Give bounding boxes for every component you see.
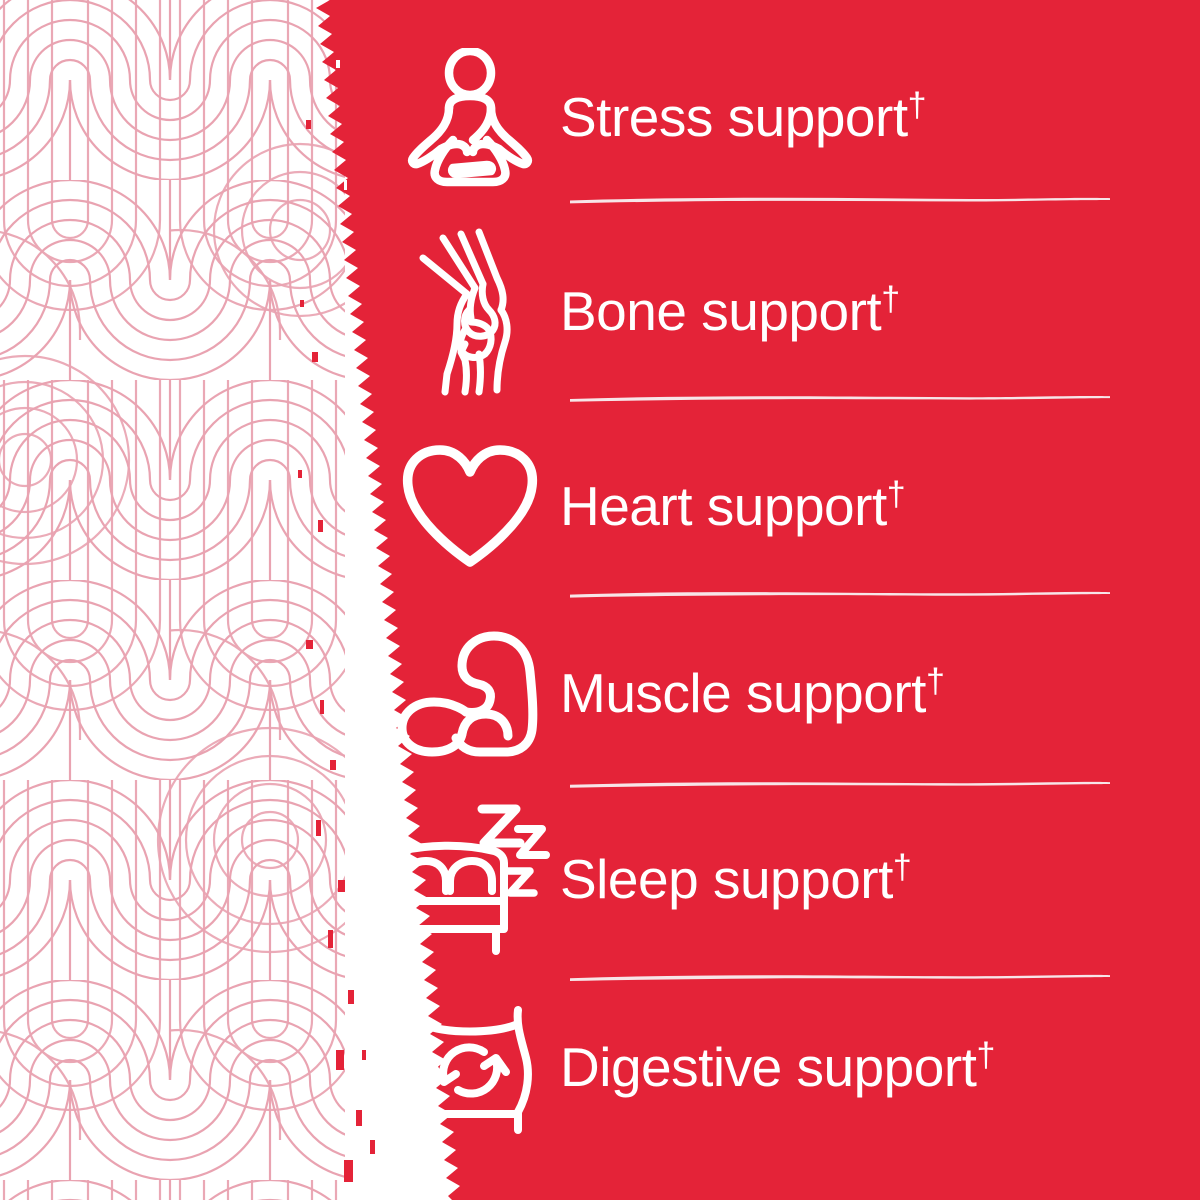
benefit-text-bone: Bone support xyxy=(560,280,881,342)
benefit-text-muscle: Muscle support xyxy=(560,662,926,724)
benefit-label-digestive: Digestive support† xyxy=(560,1039,1140,1097)
benefit-label-bone: Bone support† xyxy=(560,283,1140,341)
benefit-label-sleep: Sleep support† xyxy=(560,851,1140,909)
benefit-text-stress: Stress support xyxy=(560,86,908,148)
digestive-torso-cycle-icon xyxy=(380,1002,560,1134)
footnote-dagger-digestive: † xyxy=(976,1036,994,1074)
footnote-dagger-heart: † xyxy=(887,476,905,514)
footnote-dagger-stress: † xyxy=(908,86,926,124)
benefit-label-heart: Heart support† xyxy=(560,478,1140,536)
heart-icon xyxy=(380,442,560,572)
divider-2 xyxy=(570,390,1110,406)
benefit-row-muscle[interactable]: Muscle support† xyxy=(380,620,1140,768)
benefit-label-muscle: Muscle support† xyxy=(560,665,1140,723)
footnote-dagger-bone: † xyxy=(881,281,899,319)
benefits-infographic: Stress support† xyxy=(0,0,1200,1200)
benefit-text-heart: Heart support xyxy=(560,475,887,537)
benefit-text-sleep: Sleep support xyxy=(560,848,893,910)
benefit-row-digestive[interactable]: Digestive support† xyxy=(380,995,1140,1140)
benefit-row-sleep[interactable]: Sleep support† xyxy=(380,800,1140,960)
footnote-dagger-muscle: † xyxy=(926,663,944,701)
meditation-lotus-icon xyxy=(380,48,560,188)
benefit-label-stress: Stress support† xyxy=(560,89,1140,147)
divider-5 xyxy=(570,969,1110,985)
bed-sleep-zzz-icon xyxy=(380,801,560,959)
benefit-text-digestive: Digestive support xyxy=(560,1036,976,1098)
benefit-row-heart[interactable]: Heart support† xyxy=(380,432,1140,582)
knee-joint-bone-icon xyxy=(380,226,560,398)
divider-4 xyxy=(570,776,1110,792)
footnote-dagger-sleep: † xyxy=(893,849,911,887)
divider-1 xyxy=(570,192,1110,208)
flexed-bicep-muscle-icon xyxy=(380,630,560,758)
benefit-row-stress[interactable]: Stress support† xyxy=(380,40,1140,195)
divider-3 xyxy=(570,586,1110,602)
benefit-row-bone[interactable]: Bone support† xyxy=(380,228,1140,396)
